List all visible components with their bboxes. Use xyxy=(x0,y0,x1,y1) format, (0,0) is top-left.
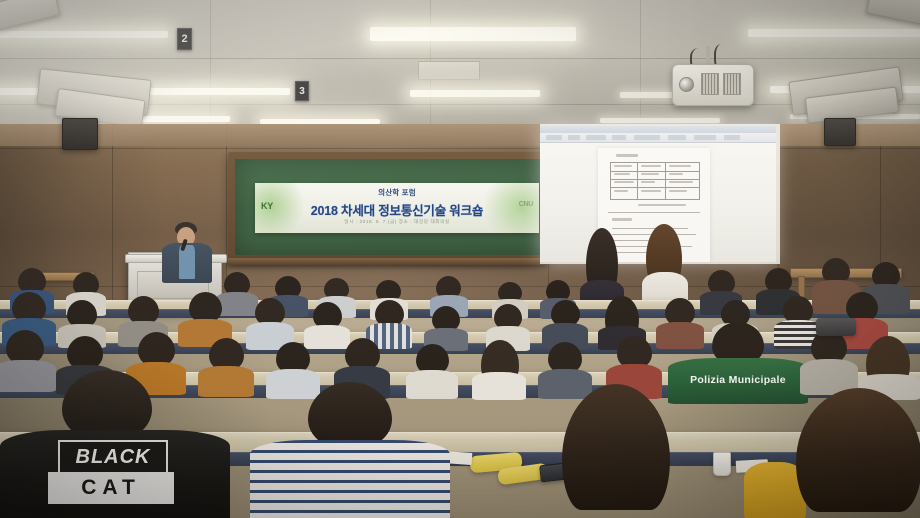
front-right-hair xyxy=(796,388,920,512)
paper-cup xyxy=(713,452,731,476)
ceiling-light xyxy=(410,90,540,97)
audience-member xyxy=(542,300,588,348)
front-striped-torso xyxy=(250,440,450,518)
audience-member xyxy=(406,344,458,398)
chalk-tray xyxy=(228,258,548,265)
audience-member-black-cat: BLACK CAT xyxy=(0,378,230,518)
ceiling-sign-2: 2 xyxy=(177,28,192,50)
ceiling-light xyxy=(600,118,720,123)
audience-member xyxy=(800,330,858,394)
banner-main-title: 2018 차세대 정보통신기술 워크숍 xyxy=(255,200,539,219)
banner-subtitle: 의산학 포럼 xyxy=(255,187,539,198)
ceiling-light xyxy=(80,116,230,122)
projected-table xyxy=(610,162,700,200)
black-cat-text-line2: CAT xyxy=(81,476,141,500)
audience-member-front-striped xyxy=(250,392,450,518)
wall-upper-band xyxy=(0,124,920,146)
black-cat-text-line1: BLACK xyxy=(76,446,151,469)
ceiling-light xyxy=(748,29,920,37)
projector-cable xyxy=(690,48,712,70)
presenter xyxy=(160,222,216,282)
green-shirt-text: Polizia Municipale xyxy=(668,374,808,386)
banner-footer: 일시 : 2018. 9. 7.(금) 장소 : 대강당 대회의실 xyxy=(255,219,539,225)
ceiling-speaker-right xyxy=(788,66,904,115)
ceiling-vent-left xyxy=(0,0,60,32)
audience-member xyxy=(472,340,526,398)
black-cat-logo-top: BLACK xyxy=(58,440,168,474)
ceiling-sign-2-label: 2 xyxy=(181,33,187,45)
ceiling-light xyxy=(0,31,168,38)
audience-member-front-long-hair xyxy=(552,384,682,518)
audience-member-front-right xyxy=(790,388,920,518)
projector-mount xyxy=(706,46,710,68)
ceiling-vent-right xyxy=(866,0,920,27)
ceiling-speaker-left xyxy=(36,68,151,116)
ceiling-light xyxy=(370,27,576,41)
front-long-hair xyxy=(562,384,670,510)
ceiling-light xyxy=(770,86,920,93)
wall-speaker-left xyxy=(62,118,98,150)
black-cat-logo-bottom: CAT xyxy=(48,472,174,504)
ceiling-panel xyxy=(418,61,480,80)
projector-lens xyxy=(679,77,694,92)
ceiling-sign-3: 3 xyxy=(295,81,309,101)
ceiling-light xyxy=(620,92,730,98)
audience-member-green-shirt: Polizia Municipale xyxy=(668,326,808,400)
chalkboard-frame: KY CNU 의산학 포럼 2018 차세대 정보통신기술 워크숍 일시 : 2… xyxy=(228,152,548,262)
ceiling: 2 3 xyxy=(0,0,920,128)
audience-member xyxy=(266,342,320,398)
desk-bag xyxy=(816,318,856,336)
ceiling-sign-3-label: 3 xyxy=(299,86,305,97)
projector-cable xyxy=(714,44,732,70)
event-banner: KY CNU 의산학 포럼 2018 차세대 정보통신기술 워크숍 일시 : 2… xyxy=(255,183,539,233)
ceiling-projector xyxy=(672,64,754,106)
chalkboard: KY CNU 의산학 포럼 2018 차세대 정보통신기술 워크숍 일시 : 2… xyxy=(235,159,541,255)
ceiling-light xyxy=(0,88,290,95)
wall-speaker-right xyxy=(824,118,856,146)
lecture-hall-photo: 2 3 xyxy=(0,0,920,518)
